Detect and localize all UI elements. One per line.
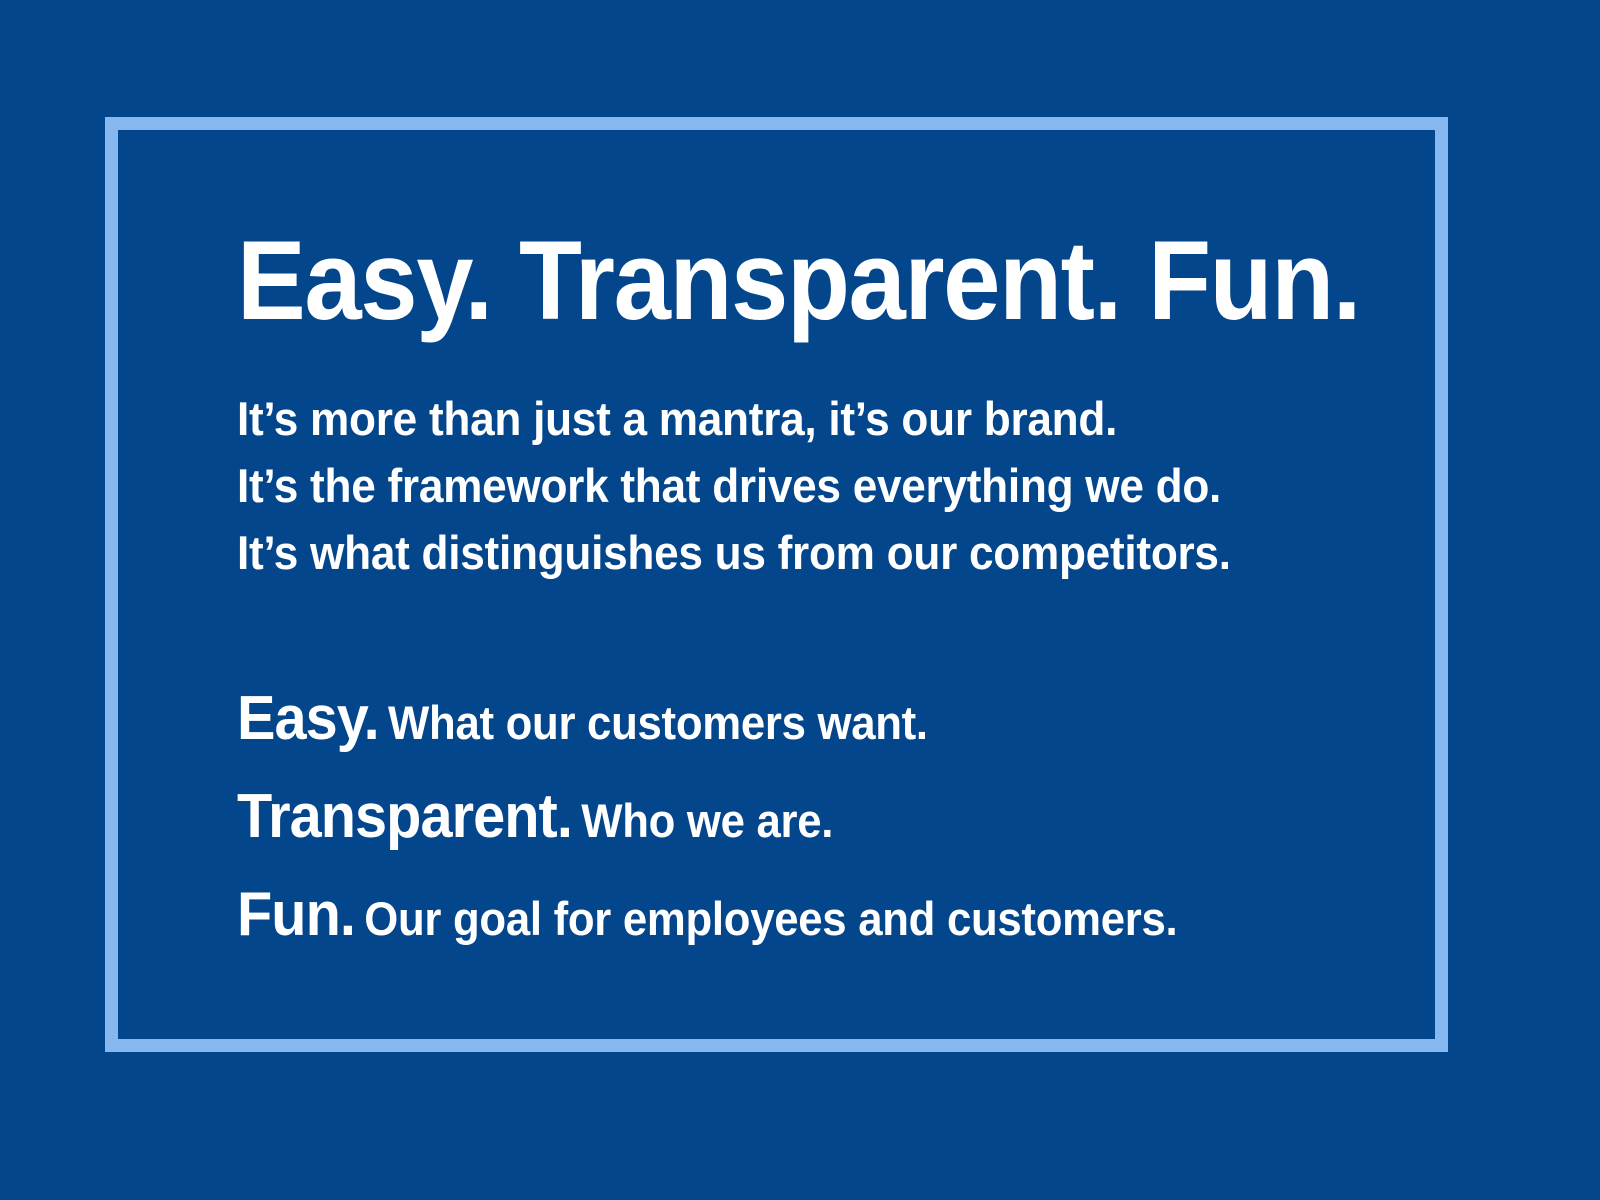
pillar-item-easy: Easy.What our customers want. bbox=[237, 678, 1307, 776]
pillar-term-transparent: Transparent. bbox=[237, 782, 572, 851]
pillar-description-easy: What our customers want. bbox=[388, 696, 928, 749]
pillar-description-fun: Our goal for employees and customers. bbox=[364, 892, 1177, 945]
pillar-list: Easy.What our customers want. Transparen… bbox=[237, 678, 1387, 972]
intro-line-2: It’s the framework that drives everythin… bbox=[237, 452, 1318, 519]
pillar-description-transparent: Who we are. bbox=[581, 794, 833, 847]
page-title: Easy. Transparent. Fun. bbox=[237, 225, 1295, 337]
slide-content: Easy. Transparent. Fun. It’s more than j… bbox=[237, 225, 1387, 972]
intro-line-3: It’s what distinguishes us from our comp… bbox=[237, 519, 1318, 586]
pillar-term-fun: Fun. bbox=[237, 880, 355, 949]
pillar-item-fun: Fun.Our goal for employees and customers… bbox=[237, 874, 1307, 972]
intro-paragraph: It’s more than just a mantra, it’s our b… bbox=[237, 385, 1387, 586]
slide-canvas: Easy. Transparent. Fun. It’s more than j… bbox=[0, 0, 1600, 1200]
pillar-term-easy: Easy. bbox=[237, 684, 379, 753]
intro-line-1: It’s more than just a mantra, it’s our b… bbox=[237, 385, 1318, 452]
pillar-item-transparent: Transparent.Who we are. bbox=[237, 776, 1307, 874]
